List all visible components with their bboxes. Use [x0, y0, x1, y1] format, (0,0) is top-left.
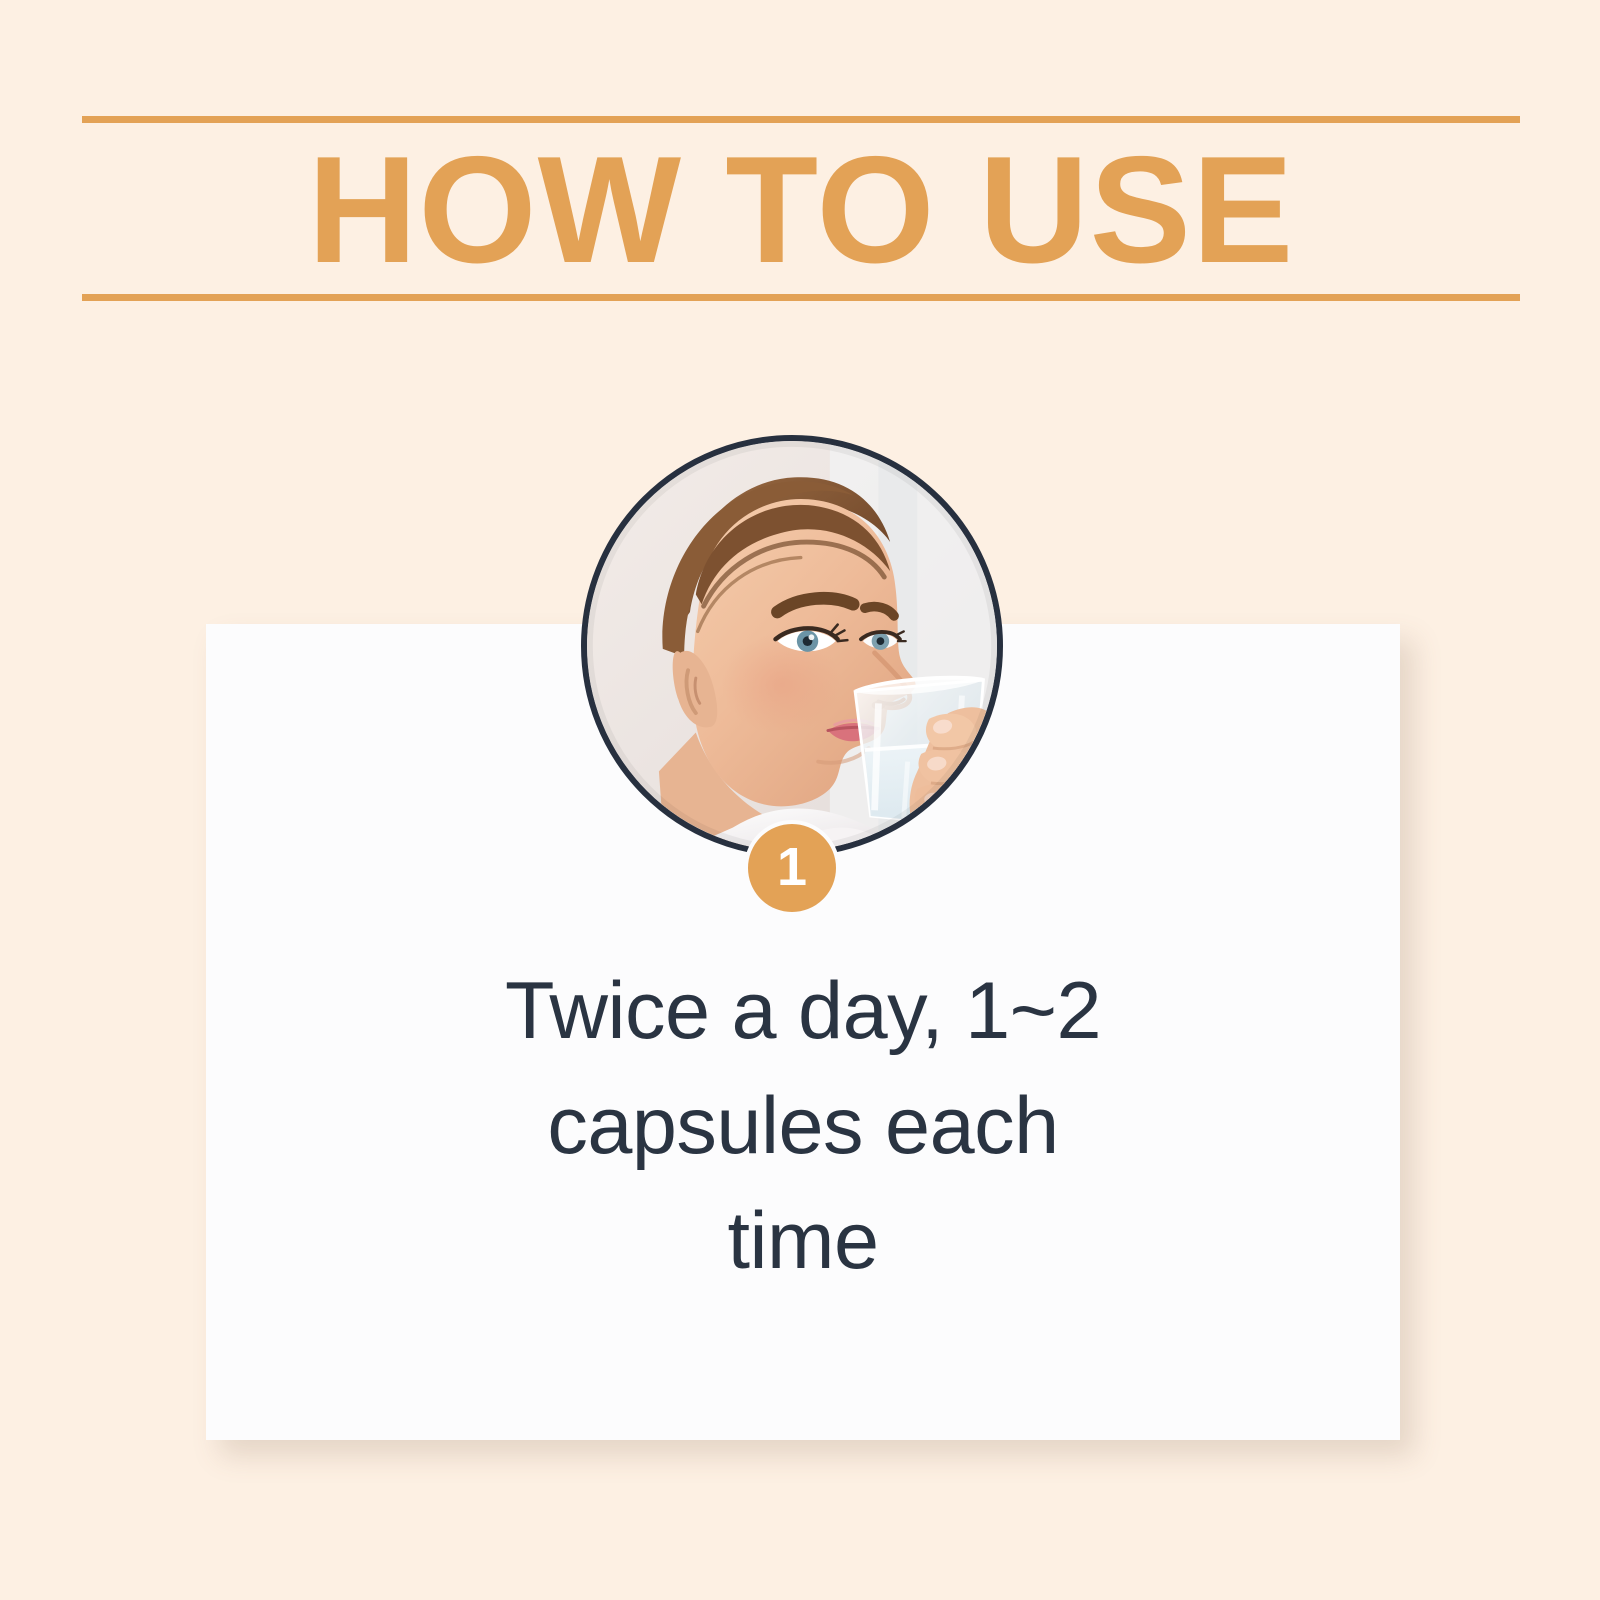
instruction-line-3: time: [386, 1184, 1220, 1299]
instruction-line-2: capsules each: [386, 1069, 1220, 1184]
step-number-badge: 1: [744, 820, 840, 916]
how-to-use-infographic: HOW TO USE Twice a day, 1~2 capsules eac…: [0, 0, 1600, 1600]
page-header: HOW TO USE: [82, 116, 1520, 301]
instruction-text: Twice a day, 1~2 capsules each time: [206, 954, 1400, 1299]
woman-drinking-water-image: [581, 435, 1003, 857]
step-photo: [581, 435, 1003, 857]
step-number-label: 1: [777, 840, 807, 894]
page-title: HOW TO USE: [308, 134, 1295, 286]
instruction-line-1: Twice a day, 1~2: [386, 954, 1220, 1069]
